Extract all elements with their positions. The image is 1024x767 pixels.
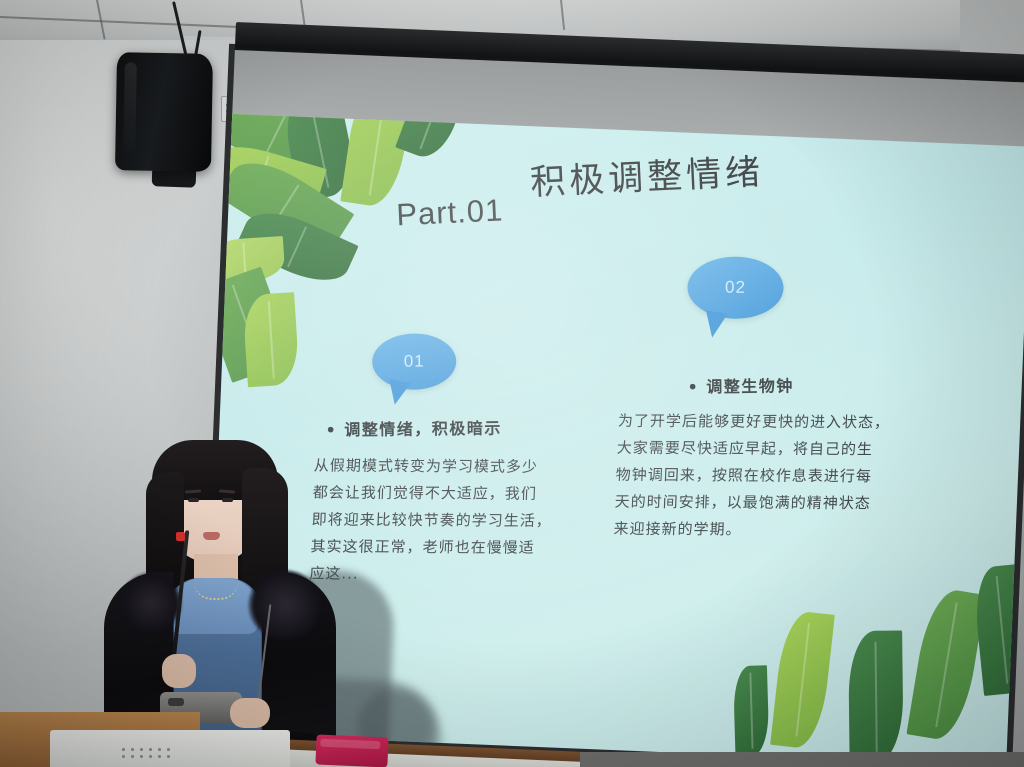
slide-part-label: Part.01 bbox=[396, 192, 505, 233]
bubble-02: 02 bbox=[687, 256, 783, 319]
column-2-heading: • 调整生物钟 bbox=[687, 372, 794, 397]
leaf-decoration bbox=[906, 586, 986, 743]
pink-case bbox=[315, 734, 388, 767]
hand-left bbox=[162, 654, 196, 688]
slide-title: 积极调整情绪 bbox=[529, 144, 765, 206]
eye-right bbox=[222, 498, 233, 502]
bubble-01-tail bbox=[385, 379, 411, 407]
bubble-01: 01 bbox=[372, 333, 457, 390]
fur-collar-left bbox=[120, 572, 182, 634]
podium-vent bbox=[122, 748, 178, 764]
eye-left bbox=[188, 498, 199, 502]
bubble-01-number: 01 bbox=[404, 351, 425, 371]
speaker-icon bbox=[115, 52, 213, 172]
leaf-decoration bbox=[770, 609, 835, 750]
photo-scene: Part.01 积极调整情绪 01 02 • 调整情绪，积极暗示 从假期模式转变… bbox=[0, 0, 1024, 767]
bubble-02-number: 02 bbox=[725, 278, 746, 298]
floor bbox=[580, 752, 1024, 767]
clicker-button bbox=[168, 698, 184, 706]
column-1-heading: • 调整情绪，积极暗示 bbox=[325, 415, 502, 441]
fur-collar-right bbox=[248, 570, 322, 640]
column-2-body: 为了开学后能够更好更快的进入状态， 大家需要尽快适应早起，将自己的生 物钟调回来… bbox=[613, 408, 949, 545]
leaf-decoration bbox=[242, 292, 300, 387]
leaf-decoration bbox=[848, 631, 903, 764]
hand-right bbox=[230, 698, 270, 728]
bubble-02-tail bbox=[702, 310, 728, 339]
mouth bbox=[203, 532, 220, 540]
ceiling-grid-line bbox=[560, 0, 565, 30]
leaf-decoration bbox=[733, 665, 770, 756]
column-1-body: 从假期模式转变为学习模式多少 都会让我们觉得不大适应，我们 即将迎来比较快节奏的… bbox=[309, 452, 595, 589]
microphone-accent bbox=[176, 532, 185, 541]
